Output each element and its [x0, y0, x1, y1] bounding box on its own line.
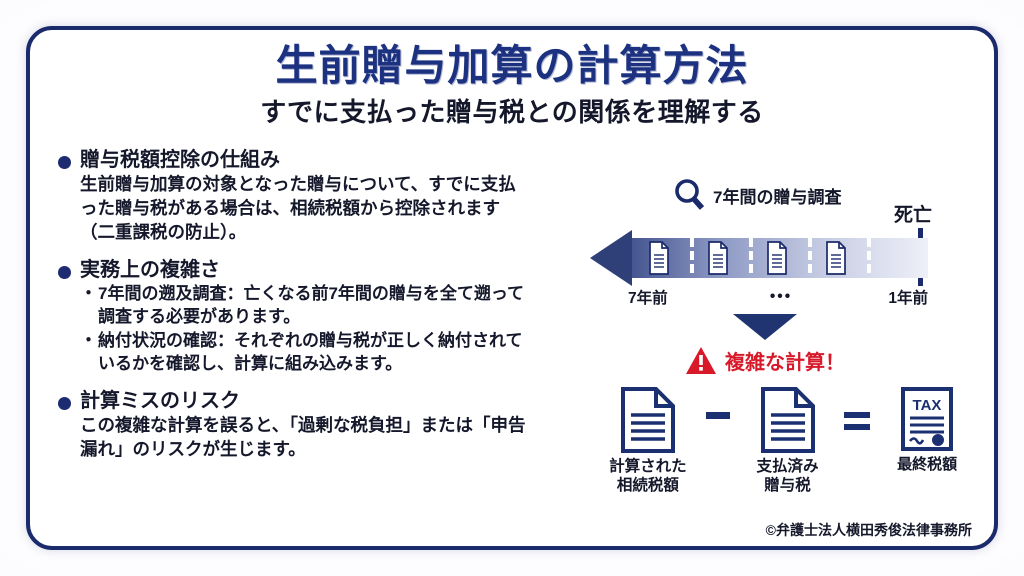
tax-formula: 計算された 相続税額 支払済み 贈与税 [600, 386, 975, 495]
timeline-year-labels: 7年前 ••• 1年前 [628, 286, 928, 308]
block-3-body: この複雑な計算を誤ると、「過剰な税負担」または「申告漏れ」のリスクが生じます。 [80, 414, 528, 462]
block-3-heading-row: 計算ミスのリスク [58, 389, 528, 414]
complex-calculation-warning: 複雑な計算！ [685, 346, 845, 375]
formula-operator-equals [835, 386, 879, 430]
gift-investigation-label: 7年間の贈与調査 [713, 183, 841, 208]
timeline-end-label: 1年前 [888, 286, 928, 308]
slide-canvas: 生前贈与加算の計算方法 すでに支払った贈与税との関係を理解する 贈与税額控除の仕… [0, 0, 1024, 576]
block-1-heading-row: 贈与税額控除の仕組み [58, 148, 528, 173]
block-2-sub-list: ・ 7年間の遡及調査：亡くなる前7年間の贈与を全て遡って調査する必要があります。… [80, 283, 528, 376]
equals-icon [844, 412, 870, 430]
sub-item-text: 納付状況の確認：それぞれの贈与税が正しく納付されているかを確認し、計算に組み込み… [98, 330, 528, 376]
block-1-body: 生前贈与加算の対象となった贈与について、すでに支払った贈与税がある場合は、相続税… [80, 173, 528, 245]
warning-label: 複雑な計算！ [725, 346, 845, 375]
block-1-heading: 贈与税額控除の仕組み [80, 148, 280, 173]
gift-investigation-label-row: 7年間の贈与調査 [674, 178, 841, 212]
formula-operator-minus [696, 386, 740, 419]
document-icon [760, 386, 816, 454]
block-2-heading: 実務上の複雑さ [80, 258, 220, 283]
formula-caption: 支払済み 贈与税 [757, 458, 819, 495]
block-2-heading-row: 実務上の複雑さ [58, 258, 528, 283]
formula-item-calculated-inheritance-tax: 計算された 相続税額 [600, 386, 696, 495]
tax-document-icon: TAX [900, 386, 954, 452]
bullet-dot-icon [58, 266, 71, 279]
diagram-column: 7年間の贈与調査 死亡 [588, 150, 980, 510]
formula-item-final-tax: TAX 最終税額 [879, 386, 975, 474]
bullet-dot-icon [58, 156, 71, 169]
document-icon [620, 386, 676, 454]
bullet-dot-icon [58, 397, 71, 410]
formula-caption: 最終税額 [897, 456, 957, 474]
magnifier-icon [674, 178, 706, 212]
block-3-heading: 計算ミスのリスク [80, 389, 240, 414]
warning-triangle-icon [685, 346, 717, 375]
page-title: 生前贈与加算の計算方法 [0, 32, 1024, 93]
formula-caption: 計算された 相続税額 [609, 458, 687, 495]
timeline-start-label: 7年前 [628, 286, 668, 308]
copyright-notice: ©弁護士法人横田秀俊法律事務所 [766, 520, 972, 540]
sub-bullet-icon: ・ [80, 330, 97, 376]
content-block-3: 計算ミスのリスク この複雑な計算を誤ると、「過剰な税負担」または「申告漏れ」のリ… [58, 389, 528, 462]
minus-icon [706, 412, 730, 419]
page-subtitle: すでに支払った贈与税との関係を理解する [0, 92, 1024, 129]
death-label: 死亡 [894, 200, 932, 227]
content-block-2: 実務上の複雑さ ・ 7年間の遡及調査：亡くなる前7年間の贈与を全て遡って調査する… [58, 258, 528, 376]
timeline-arrow [588, 230, 928, 286]
list-item: ・ 7年間の遡及調査：亡くなる前7年間の贈与を全て遡って調査する必要があります。 [80, 283, 528, 329]
sub-bullet-icon: ・ [80, 283, 97, 329]
formula-item-paid-gift-tax: 支払済み 贈与税 [740, 386, 836, 495]
content-block-1: 贈与税額控除の仕組み 生前贈与加算の対象となった贈与について、すでに支払った贈与… [58, 148, 528, 245]
left-content-column: 贈与税額控除の仕組み 生前贈与加算の対象となった贈与について、すでに支払った贈与… [58, 148, 528, 475]
down-arrow-icon [733, 314, 797, 340]
timeline-middle-label: ••• [770, 288, 792, 306]
tax-document-label: TAX [913, 397, 942, 414]
list-item: ・ 納付状況の確認：それぞれの贈与税が正しく納付されているかを確認し、計算に組み… [80, 330, 528, 376]
sub-item-text: 7年間の遡及調査：亡くなる前7年間の贈与を全て遡って調査する必要があります。 [98, 283, 528, 329]
